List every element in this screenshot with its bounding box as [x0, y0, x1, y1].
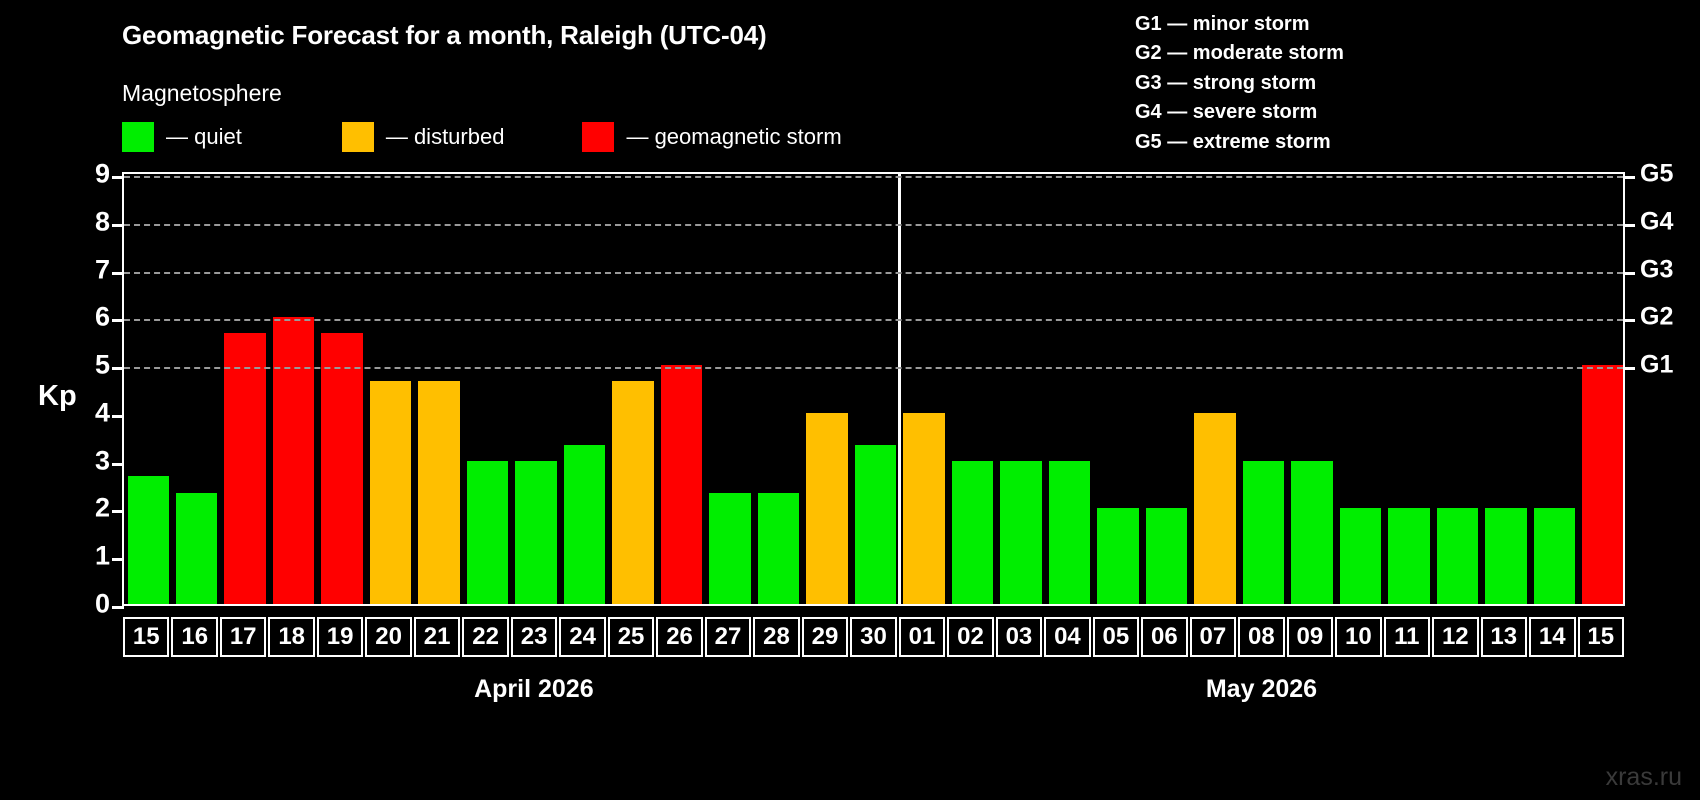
right-tick-G3: [1623, 272, 1635, 275]
day-label-05[interactable]: 05: [1093, 617, 1139, 657]
legend-item-quiet: — quiet: [122, 122, 242, 152]
bar-day-25[interactable]: [612, 381, 653, 604]
right-tick-label-G4: G4: [1640, 207, 1673, 236]
bar-day-17[interactable]: [224, 333, 265, 604]
g-scale-line-5: G5 — extreme storm: [1135, 128, 1344, 157]
y-tick-label-5: 5: [95, 350, 110, 381]
right-tick-label-G1: G1: [1640, 351, 1673, 380]
month-label-2: May 2026: [1206, 675, 1317, 704]
g-scale-line-3: G3 — strong storm: [1135, 69, 1344, 98]
day-label-02[interactable]: 02: [947, 617, 993, 657]
day-label-19[interactable]: 19: [317, 617, 363, 657]
y-tick-label-8: 8: [95, 206, 110, 237]
day-label-17[interactable]: 17: [220, 617, 266, 657]
right-tick-G2: [1623, 319, 1635, 322]
bar-day-04[interactable]: [1049, 461, 1090, 604]
page-title: Geomagnetic Forecast for a month, Raleig…: [122, 20, 766, 51]
day-label-08[interactable]: 08: [1238, 617, 1284, 657]
bar-day-21[interactable]: [418, 381, 459, 604]
bar-day-19[interactable]: [321, 333, 362, 604]
day-label-25[interactable]: 25: [608, 617, 654, 657]
legend: — quiet— disturbed— geomagnetic storm: [122, 122, 842, 152]
legend-item-storm: — geomagnetic storm: [582, 122, 841, 152]
y-tick-8: [112, 224, 124, 227]
day-label-18[interactable]: 18: [268, 617, 314, 657]
day-label-29[interactable]: 29: [802, 617, 848, 657]
month-label-1: April 2026: [474, 675, 594, 704]
y-tick-2: [112, 510, 124, 513]
y-tick-4: [112, 415, 124, 418]
bar-day-05[interactable]: [1097, 508, 1138, 604]
day-label-23[interactable]: 23: [511, 617, 557, 657]
y-tick-label-4: 4: [95, 397, 110, 428]
g-scale-line-1: G1 — minor storm: [1135, 10, 1344, 39]
y-tick-1: [112, 558, 124, 561]
bar-day-24[interactable]: [564, 445, 605, 604]
bar-day-26[interactable]: [661, 365, 702, 604]
y-tick-label-7: 7: [95, 254, 110, 285]
gridline-kp-7: [124, 272, 1623, 274]
g-scale-legend: G1 — minor stormG2 — moderate stormG3 — …: [1135, 10, 1344, 157]
g-scale-line-2: G2 — moderate storm: [1135, 39, 1344, 68]
bar-day-23[interactable]: [515, 461, 556, 604]
bar-day-28[interactable]: [758, 493, 799, 604]
legend-label-quiet: — quiet: [166, 124, 242, 150]
bar-day-22[interactable]: [467, 461, 508, 604]
y-axis-title: Kp: [38, 380, 77, 413]
y-tick-9: [112, 176, 124, 179]
day-label-03[interactable]: 03: [996, 617, 1042, 657]
right-tick-label-G2: G2: [1640, 303, 1673, 332]
day-label-13[interactable]: 13: [1481, 617, 1527, 657]
day-label-14[interactable]: 14: [1529, 617, 1575, 657]
bar-day-16[interactable]: [176, 493, 217, 604]
day-label-01[interactable]: 01: [899, 617, 945, 657]
y-tick-label-2: 2: [95, 493, 110, 524]
bar-day-29[interactable]: [806, 413, 847, 604]
bar-day-11[interactable]: [1388, 508, 1429, 604]
watermark: xras.ru: [1606, 763, 1682, 792]
right-tick-label-G5: G5: [1640, 160, 1673, 189]
right-tick-G1: [1623, 367, 1635, 370]
legend-swatch-disturbed: [342, 122, 374, 152]
legend-item-disturbed: — disturbed: [342, 122, 505, 152]
magnetosphere-heading: Magnetosphere: [122, 80, 282, 107]
day-label-06[interactable]: 06: [1141, 617, 1187, 657]
bar-day-15[interactable]: [128, 476, 169, 604]
right-tick-label-G3: G3: [1640, 255, 1673, 284]
day-label-30[interactable]: 30: [850, 617, 896, 657]
gridline-kp-9: [124, 176, 1623, 178]
y-tick-0: [112, 606, 124, 609]
chart-plot-area: [122, 172, 1625, 606]
legend-swatch-storm: [582, 122, 614, 152]
y-tick-label-1: 1: [95, 541, 110, 572]
y-tick-6: [112, 319, 124, 322]
bar-day-30[interactable]: [855, 445, 896, 604]
bar-day-03[interactable]: [1000, 461, 1041, 604]
bar-day-15[interactable]: [1582, 365, 1623, 604]
bar-day-20[interactable]: [370, 381, 411, 604]
day-label-15[interactable]: 15: [123, 617, 169, 657]
day-label-27[interactable]: 27: [705, 617, 751, 657]
bar-day-27[interactable]: [709, 493, 750, 604]
day-label-20[interactable]: 20: [365, 617, 411, 657]
y-tick-label-6: 6: [95, 302, 110, 333]
day-label-24[interactable]: 24: [559, 617, 605, 657]
day-label-26[interactable]: 26: [656, 617, 702, 657]
y-tick-7: [112, 272, 124, 275]
gridline-kp-5: [124, 367, 1623, 369]
day-label-12[interactable]: 12: [1432, 617, 1478, 657]
day-label-09[interactable]: 09: [1287, 617, 1333, 657]
right-tick-G4: [1623, 224, 1635, 227]
bar-day-18[interactable]: [273, 317, 314, 604]
bar-day-02[interactable]: [952, 461, 993, 604]
day-label-15[interactable]: 15: [1578, 617, 1624, 657]
bar-day-01[interactable]: [903, 413, 944, 604]
day-label-07[interactable]: 07: [1190, 617, 1236, 657]
day-label-28[interactable]: 28: [753, 617, 799, 657]
legend-label-disturbed: — disturbed: [386, 124, 505, 150]
bar-day-09[interactable]: [1291, 461, 1332, 604]
y-tick-label-3: 3: [95, 445, 110, 476]
bar-series: [124, 174, 1623, 604]
bar-day-14[interactable]: [1534, 508, 1575, 604]
day-label-04[interactable]: 04: [1044, 617, 1090, 657]
y-tick-5: [112, 367, 124, 370]
bar-day-10[interactable]: [1340, 508, 1381, 604]
bar-day-07[interactable]: [1194, 413, 1235, 604]
legend-swatch-quiet: [122, 122, 154, 152]
y-tick-label-9: 9: [95, 159, 110, 190]
month-divider: [898, 174, 901, 604]
g-scale-line-4: G4 — severe storm: [1135, 98, 1344, 127]
day-label-22[interactable]: 22: [462, 617, 508, 657]
day-label-16[interactable]: 16: [171, 617, 217, 657]
day-label-11[interactable]: 11: [1384, 617, 1430, 657]
right-tick-G5: [1623, 176, 1635, 179]
bar-day-12[interactable]: [1437, 508, 1478, 604]
legend-label-storm: — geomagnetic storm: [626, 124, 841, 150]
gridline-kp-6: [124, 319, 1623, 321]
bar-day-08[interactable]: [1243, 461, 1284, 604]
y-tick-label-0: 0: [95, 589, 110, 620]
bar-day-13[interactable]: [1485, 508, 1526, 604]
day-label-10[interactable]: 10: [1335, 617, 1381, 657]
gridline-kp-8: [124, 224, 1623, 226]
y-tick-3: [112, 463, 124, 466]
day-label-21[interactable]: 21: [414, 617, 460, 657]
bar-day-06[interactable]: [1146, 508, 1187, 604]
